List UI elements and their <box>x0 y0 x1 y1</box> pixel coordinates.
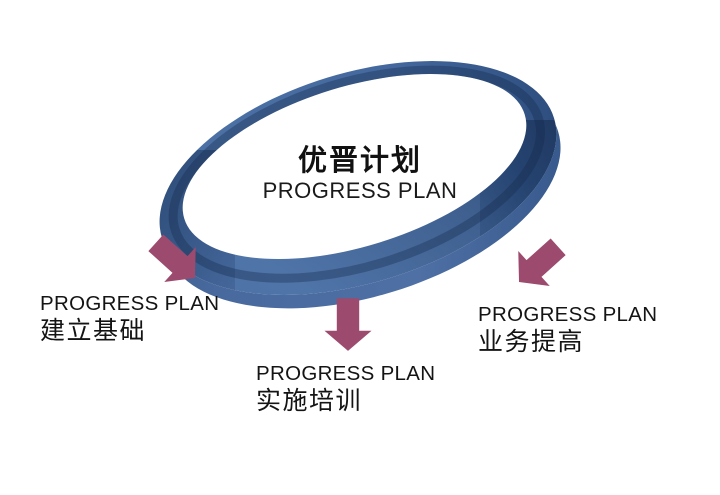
center-title-en: PROGRESS PLAN <box>210 179 510 204</box>
step-label-en: PROGRESS PLAN <box>478 303 657 327</box>
step-label-establish-foundation: PROGRESS PLAN 建立基础 <box>40 292 219 347</box>
arrow-down-icon <box>320 296 376 352</box>
progress-ring-graphic <box>0 0 720 495</box>
arrow-down-left-icon <box>135 220 214 299</box>
arrow-down-right-icon <box>499 224 578 303</box>
step-label-business-improvement: PROGRESS PLAN 业务提高 <box>478 303 657 358</box>
step-label-cn: 实施培训 <box>256 387 435 417</box>
ring-band-thickness <box>0 0 720 495</box>
step-label-implement-training: PROGRESS PLAN 实施培训 <box>256 362 435 417</box>
center-title-cn: 优晋计划 <box>210 145 510 177</box>
center-title-block: 优晋计划 PROGRESS PLAN <box>210 145 510 204</box>
step-label-en: PROGRESS PLAN <box>256 362 435 386</box>
step-label-cn: 业务提高 <box>478 328 657 358</box>
ring-band-face <box>0 0 720 495</box>
step-label-cn: 建立基础 <box>40 317 219 347</box>
slide-canvas: 优晋计划 PROGRESS PLAN PROGRESS PLAN 建立基础 PR… <box>0 0 720 495</box>
step-label-en: PROGRESS PLAN <box>40 292 219 316</box>
